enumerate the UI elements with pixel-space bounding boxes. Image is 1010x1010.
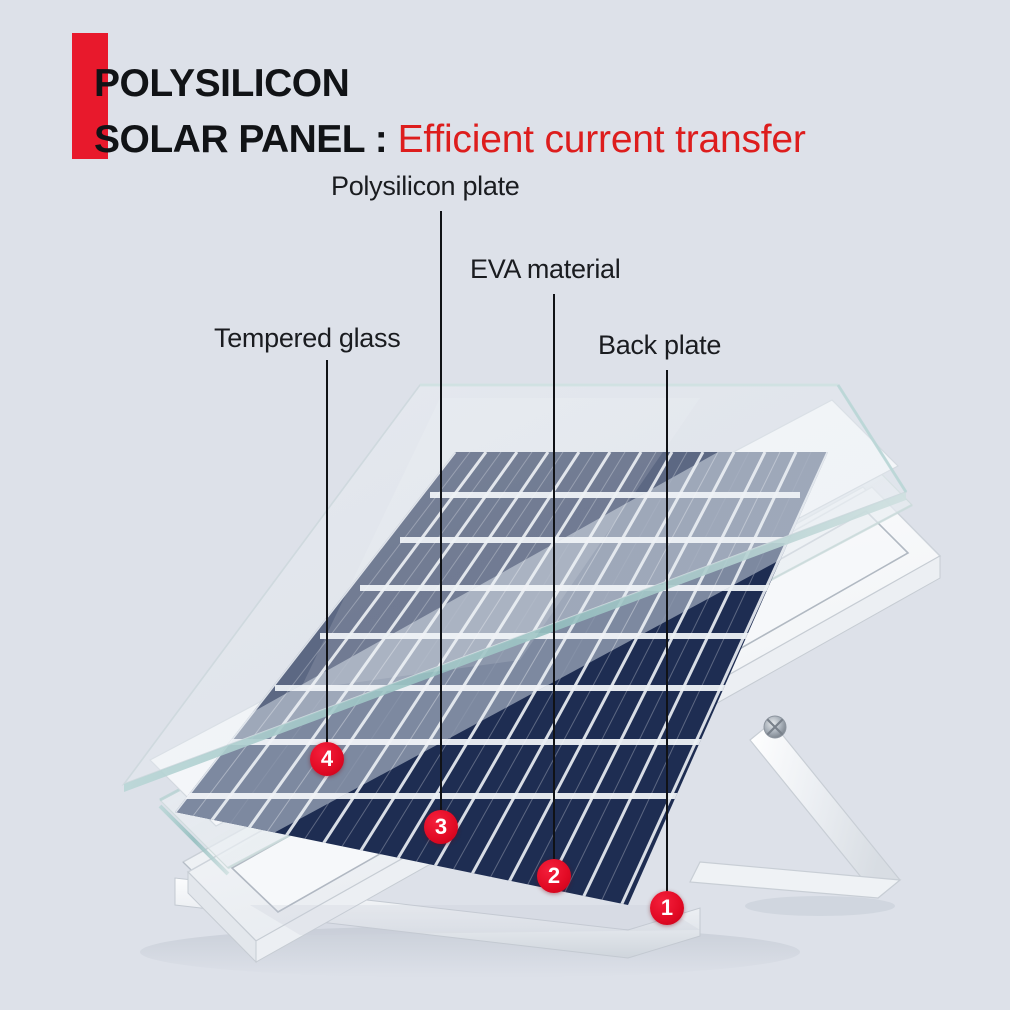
leader-line-tempered-glass	[326, 360, 328, 746]
leader-line-polysilicon-plate	[440, 211, 442, 814]
leader-line-eva-material	[553, 294, 555, 863]
page-title-line-2: SOLAR PANEL : Efficient current transfer	[94, 118, 806, 162]
callout-badge-4: 4	[310, 742, 344, 776]
callout-label-polysilicon-plate: Polysilicon plate	[331, 171, 520, 202]
infographic-canvas: POLYSILICON SOLAR PANEL : Efficient curr…	[0, 0, 1010, 1010]
callout-badge-2: 2	[537, 859, 571, 893]
callout-badge-1: 1	[650, 891, 684, 925]
page-title-separator: :	[364, 118, 397, 161]
folding-stand	[690, 716, 900, 916]
callout-badge-3: 3	[424, 810, 458, 844]
callout-label-tempered-glass: Tempered glass	[214, 323, 400, 354]
page-title-main: SOLAR PANEL	[94, 118, 364, 161]
page-title-subtitle: Efficient current transfer	[398, 118, 806, 161]
leader-line-back-plate	[666, 370, 668, 895]
callout-label-eva-material: EVA material	[470, 254, 620, 285]
title-block: POLYSILICON SOLAR PANEL : Efficient curr…	[72, 30, 902, 162]
callout-label-back-plate: Back plate	[598, 330, 721, 361]
page-title-line-1: POLYSILICON	[94, 62, 349, 106]
